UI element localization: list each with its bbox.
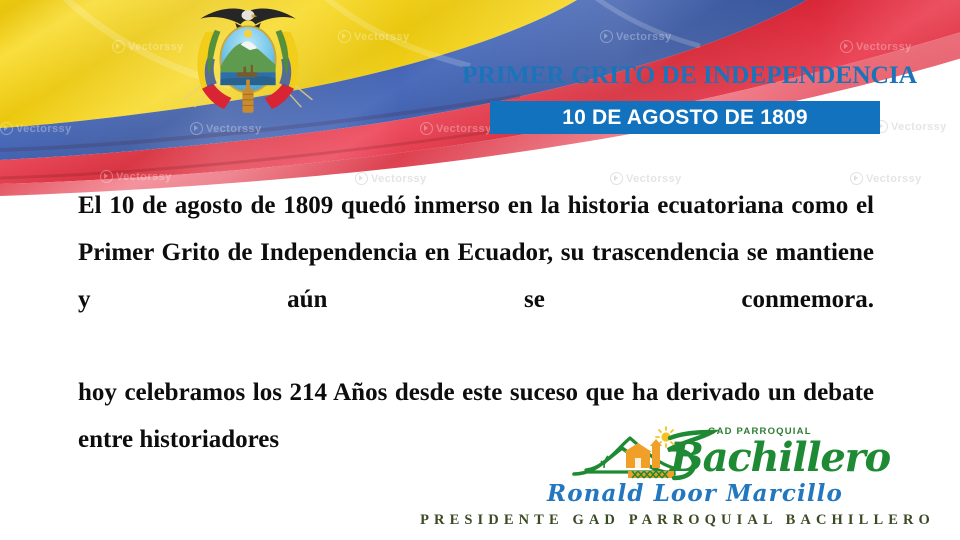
ecuador-flag-image: Vectorssy Vectorssy Vectorssy Vectorssy … xyxy=(0,0,960,200)
date-banner-label: 10 DE AGOSTO DE 1809 xyxy=(562,106,808,130)
paragraph-1: El 10 de agosto de 1809 quedó inmerso en… xyxy=(78,182,874,323)
slide-canvas: Vectorssy Vectorssy Vectorssy Vectorssy … xyxy=(0,0,960,540)
tree-icon xyxy=(601,456,608,468)
president-signature: Ronald Loor Marcillo xyxy=(530,480,860,507)
flag-silk-shine xyxy=(0,0,960,196)
zodiac-sun xyxy=(244,30,252,38)
footer-caption: PRESIDENTE GAD PARROQUIAL BACHILLERO xyxy=(395,512,960,529)
flag-graphic xyxy=(0,0,960,200)
date-banner: 10 DE AGOSTO DE 1809 xyxy=(490,101,880,134)
logo-signature-block: GAD PARROQUIAL Bachillero Ronald Loor Ma… xyxy=(570,424,960,540)
page-title: PRIMER GRITO DE INDEPENDENCIA xyxy=(462,60,932,90)
bridge-icon xyxy=(628,471,674,478)
church-icon xyxy=(624,439,662,468)
logo-wordmark: Bachillero xyxy=(670,434,890,481)
body-text-block: El 10 de agosto de 1809 quedó inmerso en… xyxy=(78,182,874,463)
